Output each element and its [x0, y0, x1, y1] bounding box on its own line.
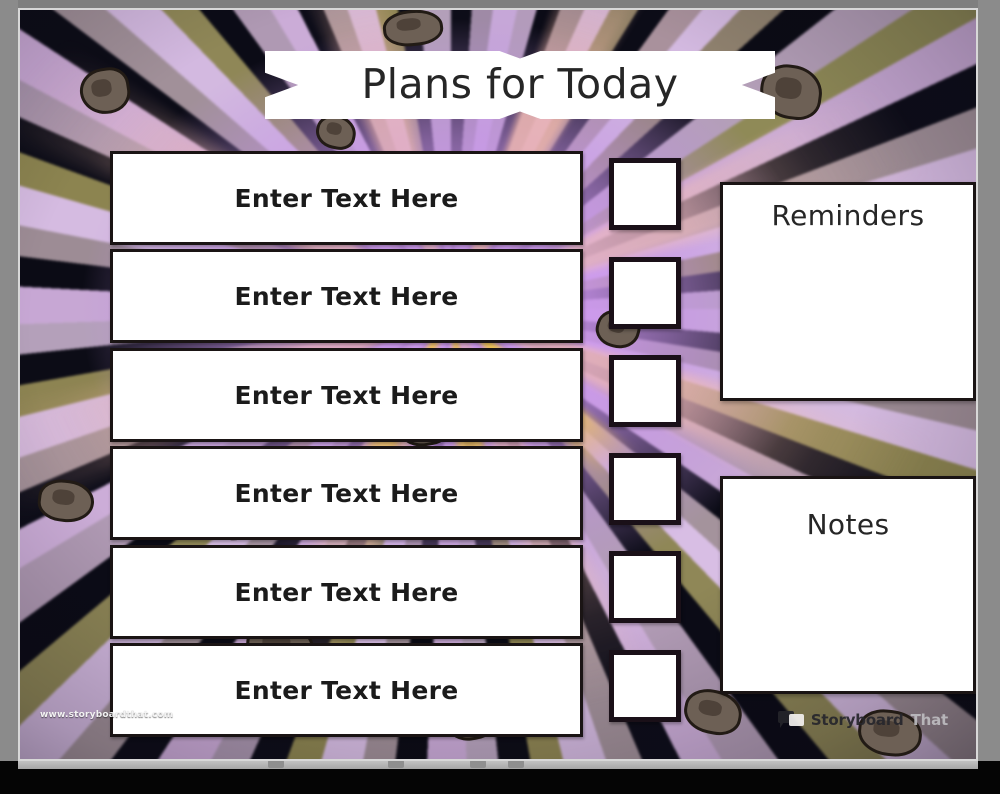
task-row-label: Enter Text Here [235, 578, 459, 607]
task-checkbox[interactable] [609, 257, 681, 329]
task-row-label: Enter Text Here [235, 381, 459, 410]
task-row[interactable]: Enter Text Here [110, 249, 583, 343]
task-checkbox[interactable] [609, 158, 681, 230]
brand-name: Storyboard [811, 711, 904, 729]
notes-panel-title: Notes [723, 508, 973, 541]
task-checkbox[interactable] [609, 355, 681, 427]
task-checkbox[interactable] [609, 453, 681, 525]
poster-window: Plans for Today Enter Text Here Enter Te… [0, 0, 1000, 794]
poster-artboard: Plans for Today Enter Text Here Enter Te… [20, 10, 976, 759]
task-row-label: Enter Text Here [235, 479, 459, 508]
reminders-panel-title: Reminders [723, 199, 973, 232]
task-row[interactable]: Enter Text Here [110, 151, 583, 245]
task-row[interactable]: Enter Text Here [110, 446, 583, 540]
task-row[interactable]: Enter Text Here [110, 348, 583, 442]
task-checkbox[interactable] [609, 650, 681, 722]
window-frame-top [0, 0, 1000, 8]
brand-watermark: Storyboard That [778, 711, 948, 729]
title-banner: Plans for Today [265, 51, 775, 119]
reminders-panel[interactable]: Reminders [720, 182, 976, 401]
task-row-label: Enter Text Here [235, 676, 459, 705]
page-title: Plans for Today [361, 64, 678, 105]
speech-bubbles-icon [778, 711, 804, 729]
site-url-watermark: www.storyboardthat.com [40, 710, 173, 720]
task-row-label: Enter Text Here [235, 184, 459, 213]
bottom-chrome-bar [18, 759, 978, 769]
task-checkbox[interactable] [609, 551, 681, 623]
brand-suffix: That [911, 711, 948, 729]
window-frame-left [0, 0, 18, 794]
notes-panel[interactable]: Notes [720, 476, 976, 694]
window-frame-right [978, 0, 1000, 794]
task-row[interactable]: Enter Text Here [110, 545, 583, 639]
task-row[interactable]: Enter Text Here [110, 643, 583, 737]
task-row-label: Enter Text Here [235, 282, 459, 311]
